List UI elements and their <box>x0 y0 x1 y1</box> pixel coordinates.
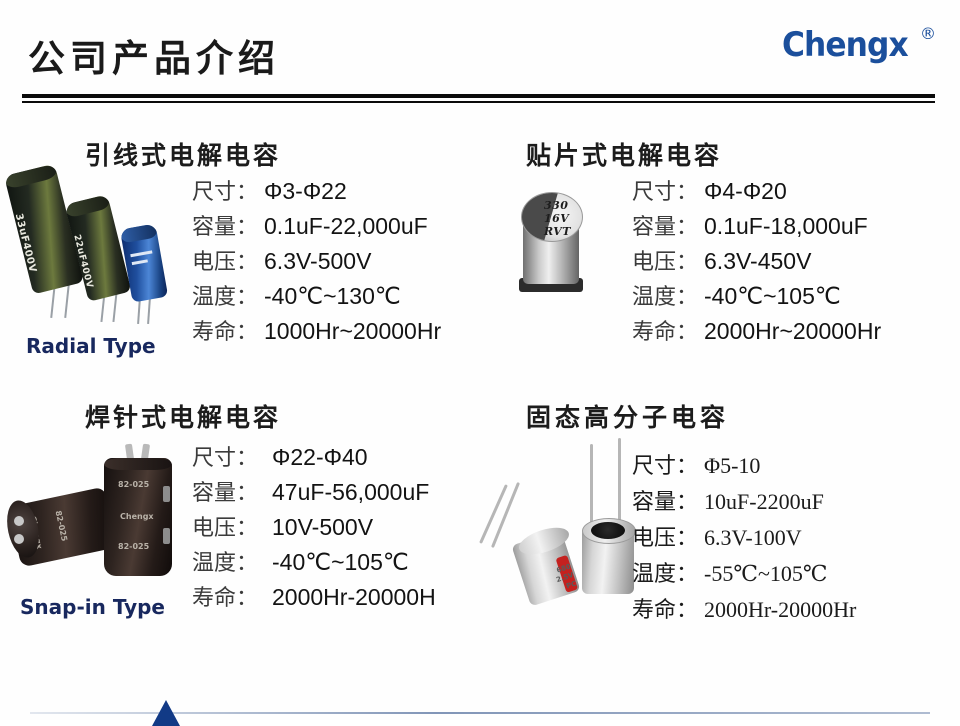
page-title: 公司产品介绍 <box>28 28 280 82</box>
spec-value-capacitance: 0.1uF-18,000uF <box>704 209 881 244</box>
smd-capacitor-photo: 330 16V RVT <box>515 188 590 298</box>
spec-value-lifetime: 1000Hr~20000Hr <box>264 314 441 349</box>
spec-label-lifetime: 寿命： <box>632 592 704 628</box>
spec-row: 容量： 0.1uF-22,000uF <box>192 209 441 244</box>
spec-row: 寿命： 2000Hr~20000Hr <box>632 314 881 349</box>
spec-row: 电压： 6.3V-500V <box>192 244 441 279</box>
spec-label-temperature: 温度： <box>192 545 272 580</box>
capacitor-body-medium: 22uF400V <box>65 194 132 302</box>
capacitor-body-standing: 82-025 Chengx 82-025 <box>104 458 172 576</box>
spec-value-capacitance: 47uF-56,000uF <box>272 475 436 510</box>
spec-table-radial: 尺寸： Φ3-Φ22 容量： 0.1uF-22,000uF 电压： 6.3V-5… <box>192 174 441 349</box>
spec-label-size: 尺寸： <box>192 440 272 475</box>
capacitor-top <box>120 223 158 243</box>
product-block-snapin: 焊针式电解电容 Chengx 82-025 82-025 Chengx 82-0… <box>0 390 490 650</box>
capacitor-stripe <box>130 250 152 257</box>
spec-label-temperature: 温度： <box>632 279 704 314</box>
capacitor-lead <box>137 298 141 324</box>
capacitor-top <box>65 194 111 218</box>
product-block-radial: 引线式电解电容 33uF400V 22uF400V Radial Type 尺寸… <box>0 126 490 376</box>
spec-table-smd: 尺寸： Φ4-Φ20 容量： 0.1uF-18,000uF 电压： 6.3V-4… <box>632 174 881 349</box>
capacitor-print: 82-025 <box>118 480 149 489</box>
capacitor-terminal <box>14 534 24 544</box>
capacitor-lead <box>147 298 151 324</box>
spec-row: 寿命： 2000Hr-20000Hr <box>632 592 856 628</box>
brand-logo-text: Chengx <box>782 28 908 62</box>
spec-value-temperature: -40℃~105℃ <box>272 545 436 580</box>
smd-can-top: 330 16V RVT <box>521 192 583 242</box>
spec-label-temperature: 温度： <box>192 279 264 314</box>
spec-row: 容量： 10uF-2200uF <box>632 484 856 520</box>
product-heading-smd: 贴片式电解电容 <box>526 136 722 172</box>
spec-value-lifetime: 2000Hr-20000Hr <box>704 592 856 628</box>
spec-value-lifetime: 2000Hr-20000H <box>272 580 436 615</box>
spec-value-size: Φ22-Φ40 <box>272 440 436 475</box>
spec-table-snapin: 尺寸： Φ22-Φ40 容量： 47uF-56,000uF 电压： 10V-50… <box>192 440 436 615</box>
capacitor-lead <box>590 444 593 524</box>
capacitor-lead <box>112 292 117 322</box>
spec-label-capacitance: 容量： <box>192 475 272 510</box>
capacitor-sleeve-notch <box>163 528 170 544</box>
spec-value-size: Φ4-Φ20 <box>704 174 881 209</box>
slide-header: 公司产品介绍 Chengx ® <box>0 0 960 104</box>
spec-value-size: Φ5-10 <box>704 448 856 484</box>
product-heading-polymer: 固态高分子电容 <box>526 398 729 434</box>
spec-row: 容量： 0.1uF-18,000uF <box>632 209 881 244</box>
spec-label-voltage: 电压： <box>192 510 272 545</box>
capacitor-lead <box>491 482 520 548</box>
radial-capacitor-photo: 33uF400V 22uF400V <box>14 166 189 331</box>
spec-row: 温度： -55℃~105℃ <box>632 556 856 592</box>
registered-trademark-icon: ® <box>920 26 936 42</box>
brand-logo: Chengx ® <box>782 28 936 62</box>
spec-row: 尺寸： Φ5-10 <box>632 448 856 484</box>
spec-value-voltage: 6.3V-100V <box>704 520 856 556</box>
spec-label-voltage: 电压： <box>192 244 264 279</box>
spec-label-size: 尺寸： <box>192 174 264 209</box>
spec-label-size: 尺寸： <box>632 448 704 484</box>
spec-label-capacitance: 容量： <box>632 209 704 244</box>
caption-snapin-type: Snap-in Type <box>20 595 165 619</box>
spec-row: 温度： -40℃~105℃ <box>632 279 881 314</box>
spec-row: 电压： 6.3V-450V <box>632 244 881 279</box>
capacitor-top <box>104 458 172 470</box>
capacitor-open-top <box>591 522 625 539</box>
spec-value-temperature: -40℃~130℃ <box>264 279 441 314</box>
spec-label-voltage: 电压： <box>632 244 704 279</box>
spec-label-lifetime: 寿命： <box>192 580 272 615</box>
spec-value-temperature: -40℃~105℃ <box>704 279 881 314</box>
spec-value-capacitance: 0.1uF-22,000uF <box>264 209 441 244</box>
spec-value-capacitance: 10uF-2200uF <box>704 484 856 520</box>
capacitor-print: 33uF400V <box>13 212 38 273</box>
spec-row: 寿命： 1000Hr~20000Hr <box>192 314 441 349</box>
spec-value-temperature: -55℃~105℃ <box>704 556 856 592</box>
smd-mark-capacitance: 330 <box>544 199 568 212</box>
spec-row: 尺寸： Φ3-Φ22 <box>192 174 441 209</box>
capacitor-stripe <box>132 259 148 265</box>
spec-label-lifetime: 寿命： <box>192 314 264 349</box>
capacitor-lead <box>618 438 621 524</box>
capacitor-lead <box>64 284 70 318</box>
header-divider-thick <box>22 94 935 98</box>
product-heading-snapin: 焊针式电解电容 <box>85 398 281 434</box>
header-divider-thin <box>22 101 935 103</box>
capacitor-top <box>4 164 58 190</box>
capacitor-print: 82-025 <box>54 510 69 542</box>
spec-value-voltage: 6.3V-500V <box>264 244 441 279</box>
spec-label-temperature: 温度： <box>632 556 704 592</box>
spec-label-capacitance: 容量： <box>192 209 264 244</box>
spec-row: 容量： 47uF-56,000uF <box>192 475 436 510</box>
caption-radial-type: Radial Type <box>26 334 156 358</box>
footer-triangle-icon <box>152 700 180 726</box>
capacitor-print: Chengx <box>120 512 154 521</box>
spec-row: 温度： -40℃~130℃ <box>192 279 441 314</box>
spec-value-voltage: 10V-500V <box>272 510 436 545</box>
spec-label-capacitance: 容量： <box>632 484 704 520</box>
snapin-capacitor-photo: Chengx 82-025 82-025 Chengx 82-025 <box>8 438 188 593</box>
smd-mark-voltage: 16V <box>544 212 569 225</box>
spec-row: 寿命： 2000Hr-20000H <box>192 580 436 615</box>
spec-row: 尺寸： Φ4-Φ20 <box>632 174 881 209</box>
product-block-smd: 贴片式电解电容 330 16V RVT 尺寸： Φ4-Φ20 容量： 0.1uF… <box>490 126 960 376</box>
spec-value-voltage: 6.3V-450V <box>704 244 881 279</box>
capacitor-terminal <box>14 516 24 526</box>
smd-mark-series: RVT <box>544 225 571 238</box>
spec-value-lifetime: 2000Hr~20000Hr <box>704 314 881 349</box>
capacitor-print: 82-025 <box>118 542 149 551</box>
spec-label-voltage: 电压： <box>632 520 704 556</box>
capacitor-sleeve-notch <box>163 486 170 502</box>
spec-label-lifetime: 寿命： <box>632 314 704 349</box>
spec-row: 尺寸： Φ22-Φ40 <box>192 440 436 475</box>
product-block-polymer: 固态高分子电容 680 2.5V PC 尺寸： Φ5-10 容量： 10uF-2… <box>490 390 960 650</box>
spec-row: 温度： -40℃~105℃ <box>192 545 436 580</box>
spec-table-polymer: 尺寸： Φ5-10 容量： 10uF-2200uF 电压： 6.3V-100V … <box>632 448 856 628</box>
spec-row: 电压： 6.3V-100V <box>632 520 856 556</box>
spec-value-size: Φ3-Φ22 <box>264 174 441 209</box>
spec-label-size: 尺寸： <box>632 174 704 209</box>
spec-row: 电压： 10V-500V <box>192 510 436 545</box>
